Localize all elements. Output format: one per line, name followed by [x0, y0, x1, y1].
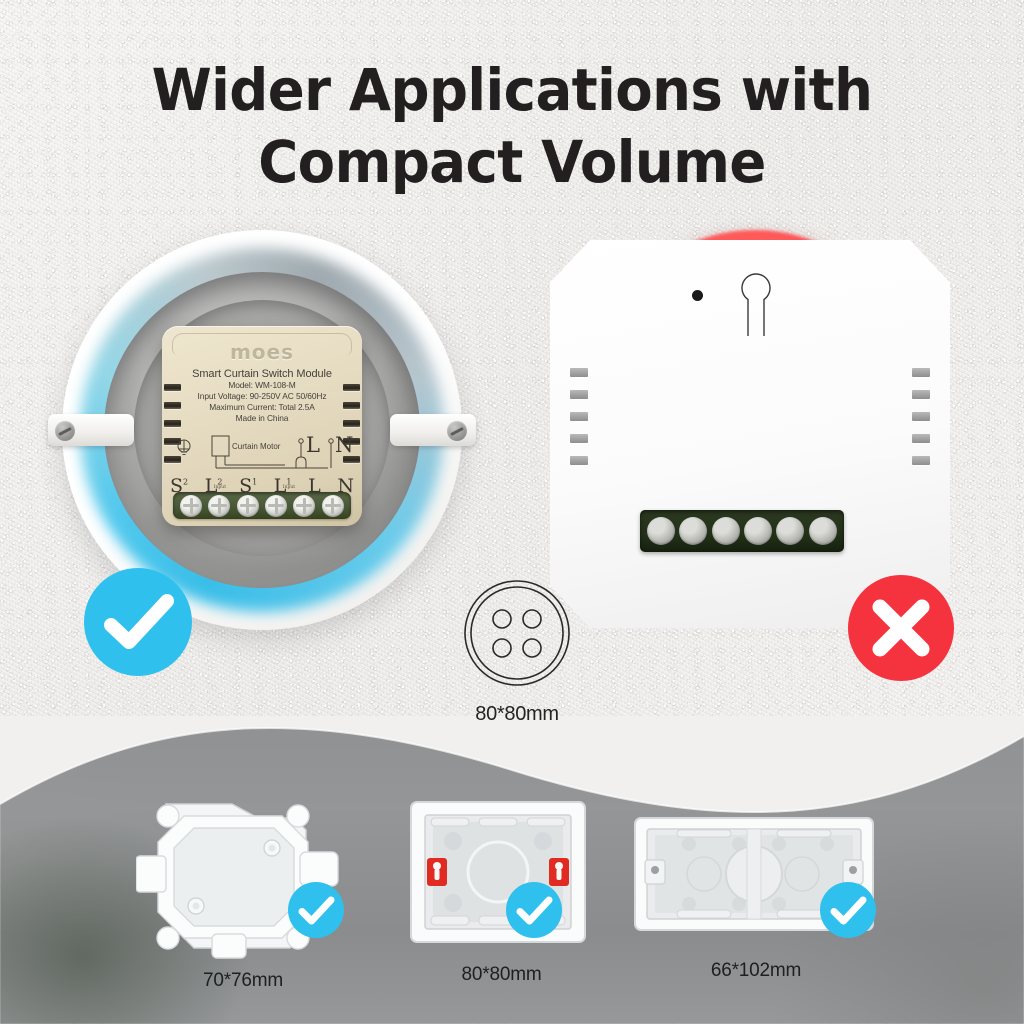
check-icon: [820, 882, 876, 938]
compatible-boxes-band: 70*76mm: [0, 716, 1024, 1024]
center-dimension-callout: 80*80mm: [452, 578, 582, 726]
diagram-neutral-label: N: [335, 433, 353, 457]
terminal-screw-icon: [322, 495, 344, 517]
check-icon: [288, 882, 344, 938]
cross-icon: [848, 575, 954, 681]
compatible-box-label: 80*80mm: [394, 964, 609, 986]
headline-line-1: Wider Applications with: [31, 54, 994, 126]
check-icon: [84, 568, 192, 676]
module-label-voltage: Input Voltage: 90-250V AC 50/60Hz: [162, 391, 362, 402]
moes-brand-logo: moes: [162, 340, 362, 364]
terminal-screw-icon: [647, 517, 675, 545]
terminal-screw-icon: [712, 517, 740, 545]
diagram-live-label: L: [306, 433, 320, 457]
module-vents-right: [912, 368, 930, 478]
module-label-current: Maximum Current: Total 2.5A: [162, 402, 362, 413]
status-badge-ok: [84, 568, 192, 676]
module-label-title: Smart Curtain Switch Module: [162, 368, 362, 380]
terminal-screw-icon: [293, 495, 315, 517]
compatible-box-item: 66*102mm: [622, 804, 890, 982]
competitor-switch-module: [550, 240, 950, 628]
module-label-origin: Made in China: [162, 413, 362, 424]
terminal-block: [173, 492, 351, 519]
module-vents-left: [570, 368, 588, 478]
compatible-box-item: 70*76mm: [118, 794, 368, 992]
terminal-screw-icon: [265, 495, 287, 517]
moes-curtain-switch-module: moes Smart Curtain Switch Module Model: …: [162, 326, 362, 526]
round-box-4-hole-icon: [462, 578, 572, 688]
page-title: Wider Applications with Compact Volume: [0, 54, 1024, 198]
compatible-box-label: 70*76mm: [118, 970, 368, 992]
terminal-screw-icon: [237, 495, 259, 517]
compatible-box-label: 66*102mm: [622, 960, 890, 982]
diagram-motor-label: Curtain Motor: [232, 442, 281, 451]
check-icon: [506, 882, 562, 938]
terminal-block: [640, 510, 844, 552]
status-badge-not-ok: [848, 575, 954, 681]
center-dimension-label: 80*80mm: [452, 703, 582, 726]
terminal-screw-icon: [809, 517, 837, 545]
terminal-screw-icon: [744, 517, 772, 545]
headline-line-2: Compact Volume: [31, 126, 994, 198]
terminal-screw-icon: [679, 517, 707, 545]
module-label-text: Smart Curtain Switch Module Model: WM-10…: [162, 368, 362, 424]
terminal-screw-icon: [776, 517, 804, 545]
module-label-model: Model: WM-108-M: [162, 380, 362, 391]
mounting-screw-right-icon: [447, 421, 467, 441]
square-wall-box-icon: [407, 798, 597, 953]
keyhole-button-icon: [738, 272, 774, 338]
mounting-screw-left-icon: [55, 421, 75, 441]
terminal-screw-icon: [208, 495, 230, 517]
led-indicator-icon: [692, 290, 703, 301]
terminal-screw-icon: [180, 495, 202, 517]
compatible-box-item: 80*80mm: [394, 798, 609, 986]
